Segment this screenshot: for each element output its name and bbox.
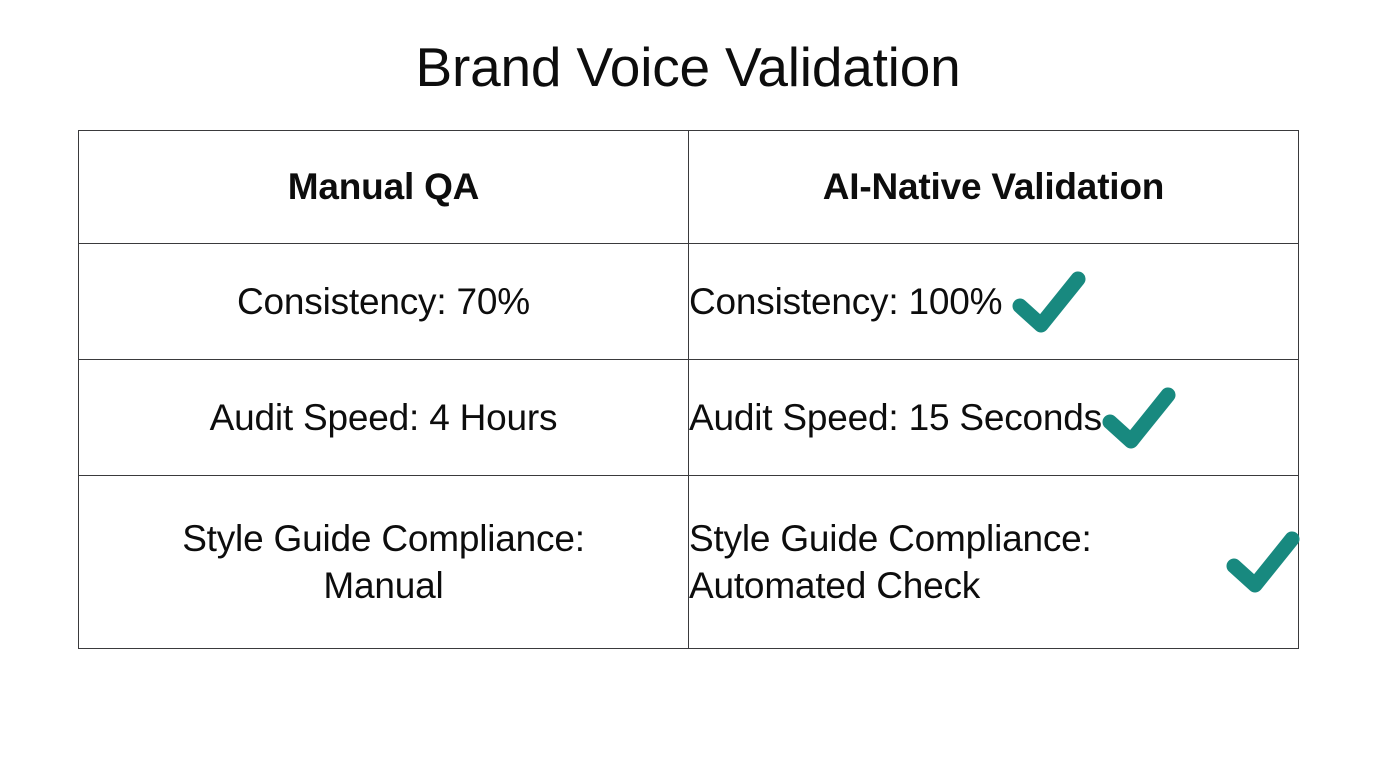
cell-ai-consistency-text: Consistency: 100% xyxy=(689,278,1002,325)
column-header-manual-qa: Manual QA xyxy=(79,131,689,244)
comparison-table-wrapper: Manual QA AI-Native Validation Consisten… xyxy=(78,130,1298,644)
table-row: Consistency: 70% Consistency: 100% xyxy=(79,244,1299,360)
cell-ai-style-guide-line1: Style Guide Compliance: xyxy=(689,515,1298,562)
check-icon xyxy=(1100,384,1178,452)
cell-ai-style-guide-text: Style Guide Compliance: Automated Check xyxy=(689,515,1298,610)
table-header-row: Manual QA AI-Native Validation xyxy=(79,131,1299,244)
cell-manual-consistency-text: Consistency: 70% xyxy=(79,278,688,325)
cell-ai-audit-speed: Audit Speed: 15 Seconds xyxy=(689,360,1299,476)
page-title: Brand Voice Validation xyxy=(0,36,1376,99)
cell-ai-audit-speed-text: Audit Speed: 15 Seconds xyxy=(689,394,1102,441)
check-icon xyxy=(1224,528,1302,596)
table-row: Audit Speed: 4 Hours Audit Speed: 15 Sec… xyxy=(79,360,1299,476)
cell-manual-style-guide-text: Style Guide Compliance: Manual xyxy=(79,515,688,610)
column-header-manual-qa-label: Manual QA xyxy=(79,166,688,209)
cell-manual-style-guide-line1: Style Guide Compliance: xyxy=(79,515,688,562)
cell-manual-consistency: Consistency: 70% xyxy=(79,244,689,360)
column-header-ai-native-validation: AI-Native Validation xyxy=(689,131,1299,244)
check-icon xyxy=(1010,268,1088,336)
slide-canvas: Brand Voice Validation Manual QA AI-Nati… xyxy=(0,0,1376,768)
table-body: Consistency: 70% Consistency: 100% xyxy=(79,244,1299,649)
cell-manual-style-guide-line2: Manual xyxy=(79,562,688,609)
comparison-table: Manual QA AI-Native Validation Consisten… xyxy=(78,130,1299,649)
cell-manual-audit-speed: Audit Speed: 4 Hours xyxy=(79,360,689,476)
cell-ai-consistency: Consistency: 100% xyxy=(689,244,1299,360)
cell-manual-style-guide: Style Guide Compliance: Manual xyxy=(79,476,689,649)
table-header: Manual QA AI-Native Validation xyxy=(79,131,1299,244)
cell-manual-audit-speed-text: Audit Speed: 4 Hours xyxy=(79,394,688,441)
column-header-ai-native-validation-label: AI-Native Validation xyxy=(689,166,1298,209)
cell-ai-style-guide: Style Guide Compliance: Automated Check xyxy=(689,476,1299,649)
cell-ai-style-guide-line2: Automated Check xyxy=(689,562,1298,609)
table-row: Style Guide Compliance: Manual Style Gui… xyxy=(79,476,1299,649)
